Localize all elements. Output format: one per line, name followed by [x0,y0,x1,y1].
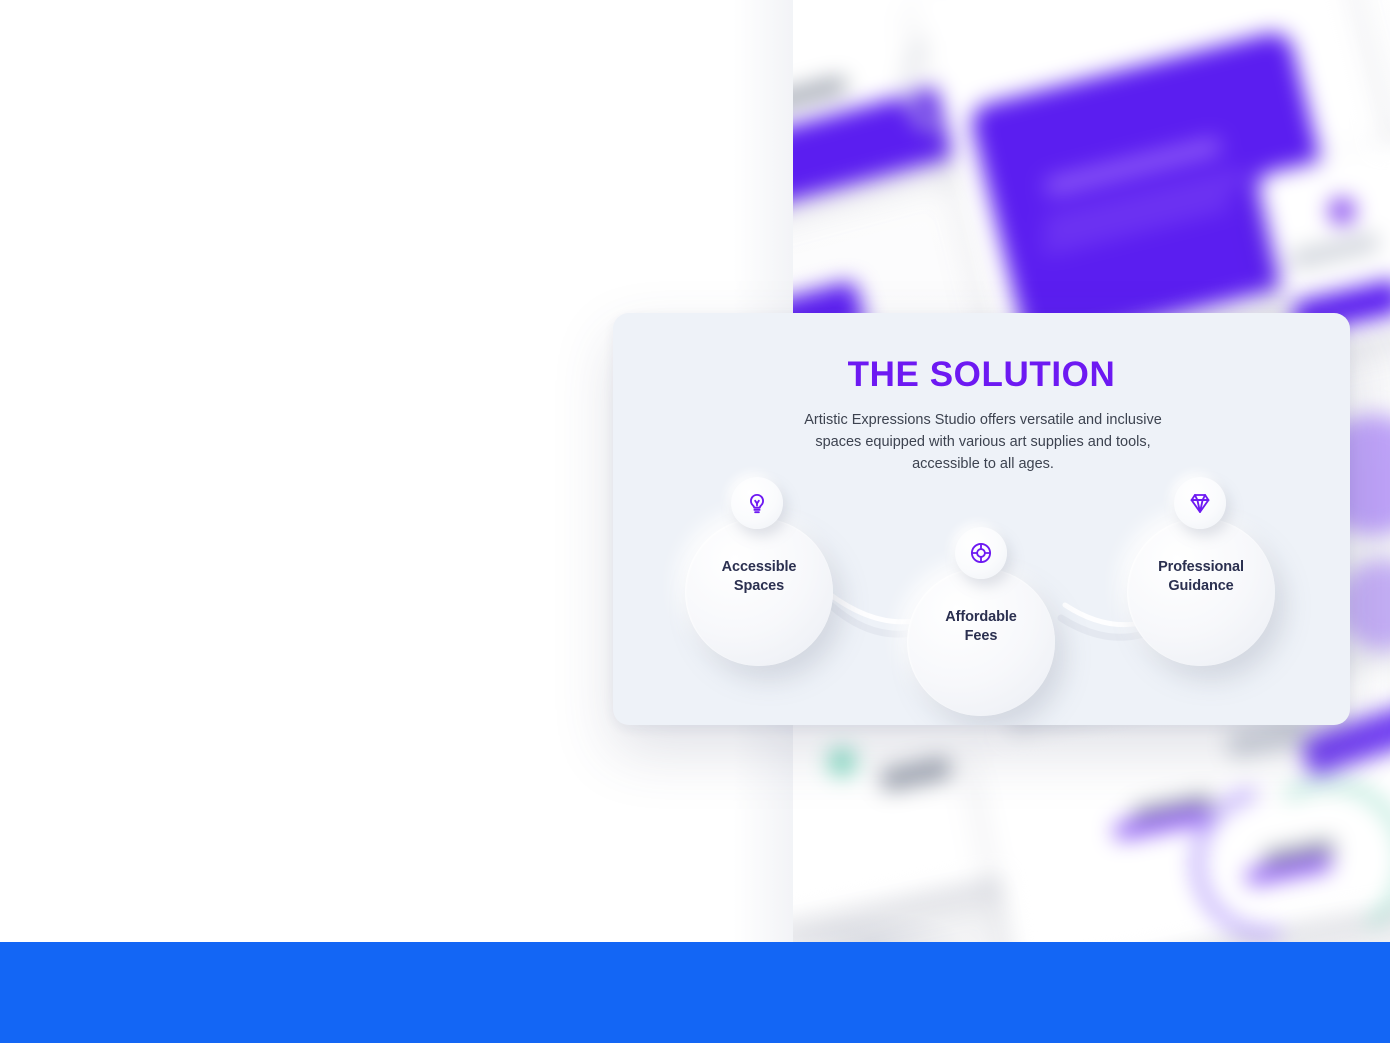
node-label: Professional Guidance [1131,558,1271,596]
blurred-mint-dot [828,748,856,776]
card-title: THE SOLUTION [613,355,1350,395]
node-label-line1: Affordable [945,609,1017,625]
footer-bar [0,942,1390,1043]
blurred-violet-dot [1329,198,1355,224]
node-label-line1: Accessible [722,559,797,575]
node-icon-badge [1174,477,1226,529]
node-label-line1: Professional [1158,559,1244,575]
node-icon-badge [955,527,1007,579]
solution-card: THE SOLUTION Artistic Expressions Studio… [613,313,1350,725]
card-description: Artistic Expressions Studio offers versa… [783,410,1183,475]
node-label-line2: Spaces [734,578,784,594]
node-label-line2: Guidance [1168,578,1233,594]
lightbulb-icon [744,490,770,516]
node-label: Accessible Spaces [693,558,825,596]
slide-root: Business Plan Kit Solution Show how your… [0,0,1390,1043]
lifebuoy-icon [968,540,994,566]
diamond-icon [1187,490,1213,516]
node-icon-badge [731,477,783,529]
node-label-line2: Fees [965,628,998,644]
node-label: Affordable Fees [915,608,1047,646]
